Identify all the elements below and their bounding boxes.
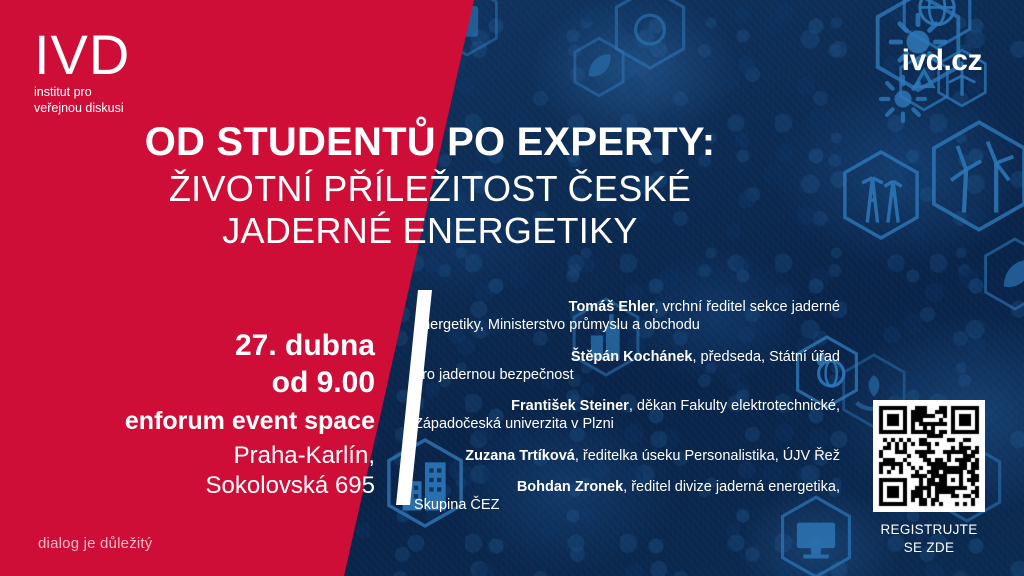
registration-block[interactable]: REGISTRUJTE SE ZDE	[873, 400, 985, 556]
website-label[interactable]: ivd.cz	[902, 44, 982, 78]
speaker-secondary-line: Skupina ČEZ	[404, 496, 840, 514]
speaker-name: Bohdan Zronek	[517, 479, 623, 495]
ivd-logo-subtitle-line2: veřejnou diskusi	[34, 100, 130, 116]
event-date: 27. dubna	[20, 328, 375, 365]
speaker-item: Bohdan Zronek, ředitel divize jaderná en…	[404, 478, 840, 515]
speaker-primary-line: Zuzana Trtíková, ředitelka úseku Persona…	[404, 447, 840, 465]
speaker-primary-line: Tomáš Ehler, vrchní ředitel sekce jadern…	[404, 298, 840, 316]
event-time: od 9.00	[20, 365, 375, 402]
speaker-name: Štěpán Kochánek	[571, 349, 693, 365]
headline-line3: JADERNÉ ENERGETIKY	[0, 210, 860, 252]
headline-line1: OD STUDENTŮ PO EXPERTY:	[0, 122, 860, 164]
leaf-icon	[980, 236, 1024, 312]
speaker-role: , děkan Fakulty elektrotechnické,	[629, 398, 840, 414]
speaker-item: Tomáš Ehler, vrchní ředitel sekce jadern…	[404, 298, 840, 335]
speaker-role: , ředitelka úseku Personalistika, ÚJV Ře…	[575, 448, 840, 464]
qr-label-line1: REGISTRUJTE	[873, 521, 985, 539]
speaker-role: , ředitel divize jaderná energetika,	[623, 479, 840, 495]
speaker-role: , předseda, Státní úřad	[692, 349, 840, 365]
speaker-item: Zuzana Trtíková, ředitelka úseku Persona…	[404, 447, 840, 465]
speaker-role: , vrchní ředitel sekce jaderné	[655, 299, 840, 315]
leaf-icon	[570, 36, 628, 98]
speaker-secondary-line: Západočeská univerzita v Plzni	[404, 415, 840, 433]
speaker-secondary-line: pro jadernou bezpečnost	[404, 366, 840, 384]
ivd-logo-subtitle: institut pro veřejnou diskusi	[34, 84, 130, 116]
speaker-item: Štěpán Kochánek, předseda, Státní úřadpr…	[404, 348, 840, 385]
speaker-name: Tomáš Ehler	[569, 299, 655, 315]
speaker-primary-line: Štěpán Kochánek, předseda, Státní úřad	[404, 348, 840, 366]
wind-turbine-icon	[925, 118, 1024, 234]
speaker-secondary-line: energetiky, Ministerstvo průmyslu a obch…	[404, 316, 840, 334]
brand-tagline: dialog je důležitý	[38, 535, 153, 552]
event-city: Praha-Karlín,	[20, 441, 375, 471]
speaker-primary-line: František Steiner, děkan Fakulty elektro…	[404, 397, 840, 415]
event-details: 27. dubna od 9.00 enforum event space Pr…	[20, 328, 375, 501]
qr-code[interactable]	[873, 400, 985, 512]
poster-canvas: IVD institut pro veřejnou diskusi ivd.cz…	[0, 0, 1024, 576]
page-title: OD STUDENTŮ PO EXPERTY: ŽIVOTNÍ PŘÍLEŽIT…	[0, 122, 860, 253]
ivd-logo[interactable]: IVD institut pro veřejnou diskusi	[34, 28, 130, 116]
speaker-item: František Steiner, děkan Fakulty elektro…	[404, 397, 840, 434]
ivd-logo-mark: IVD	[34, 28, 130, 81]
speaker-name: Zuzana Trtíková	[465, 448, 575, 464]
event-venue: enforum event space	[20, 405, 375, 438]
qr-label: REGISTRUJTE SE ZDE	[873, 521, 985, 556]
ivd-logo-subtitle-line1: institut pro	[34, 84, 130, 100]
speaker-name: František Steiner	[511, 398, 629, 414]
speaker-primary-line: Bohdan Zronek, ředitel divize jaderná en…	[404, 478, 840, 496]
headline-line2: ŽIVOTNÍ PŘÍLEŽITOST ČESKÉ	[0, 168, 860, 210]
speaker-list: Tomáš Ehler, vrchní ředitel sekce jadern…	[404, 298, 840, 514]
event-street: Sokolovská 695	[20, 471, 375, 501]
qr-label-line2: SE ZDE	[873, 539, 985, 557]
